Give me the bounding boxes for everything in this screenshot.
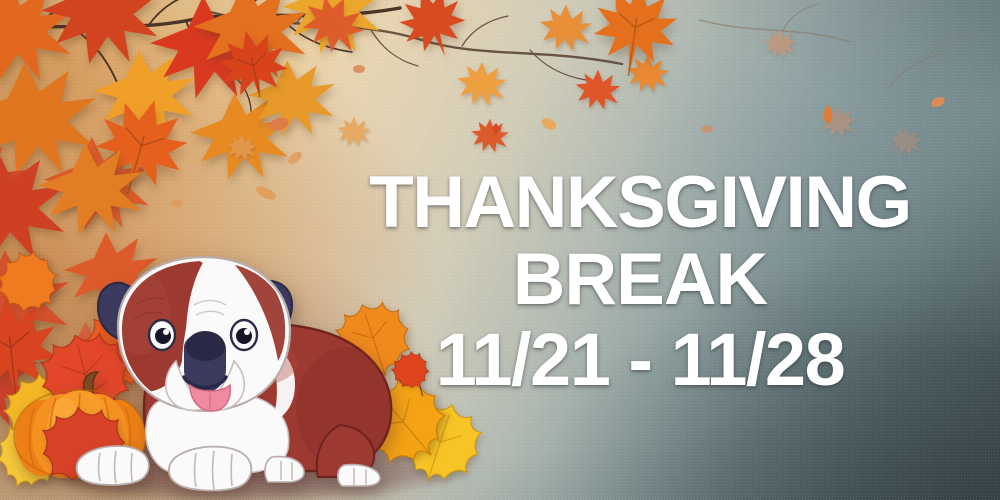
headline-line-2: BREAK xyxy=(290,245,990,315)
leaf-rosette-top-7 xyxy=(337,115,372,147)
headline-line-3-dates: 11/21 - 11/28 xyxy=(290,324,990,395)
petal-debris-1 xyxy=(268,116,290,132)
headline-block: THANKSGIVING BREAK 11/21 - 11/28 xyxy=(290,168,990,395)
maple-leaf-top-1 xyxy=(211,22,294,107)
leaf-rosette-top-9 xyxy=(763,27,798,59)
leaf-rosette-top-11 xyxy=(889,126,922,157)
dog-eye-right xyxy=(231,320,257,350)
petal-debris-4 xyxy=(540,118,558,131)
petal-debris-3 xyxy=(286,152,304,164)
headline-line-1: THANKSGIVING xyxy=(290,168,990,238)
thanksgiving-break-banner: THANKSGIVING BREAK 11/21 - 11/28 xyxy=(0,0,1000,500)
leaf-rosette-top-8 xyxy=(226,132,258,161)
dog-head xyxy=(98,257,292,411)
leaf-rosette-top-2 xyxy=(539,2,594,52)
petal-debris-9 xyxy=(352,64,366,75)
petal-debris-7 xyxy=(930,96,946,109)
leaf-rosette-top-3 xyxy=(456,59,508,107)
petal-debris-8 xyxy=(700,124,714,135)
petal-debris-6 xyxy=(820,104,836,126)
petal-debris-5 xyxy=(488,122,504,136)
petal-debris-2 xyxy=(254,186,278,200)
dog-eye-left xyxy=(149,320,175,350)
maple-leaf-top-3 xyxy=(586,0,684,84)
